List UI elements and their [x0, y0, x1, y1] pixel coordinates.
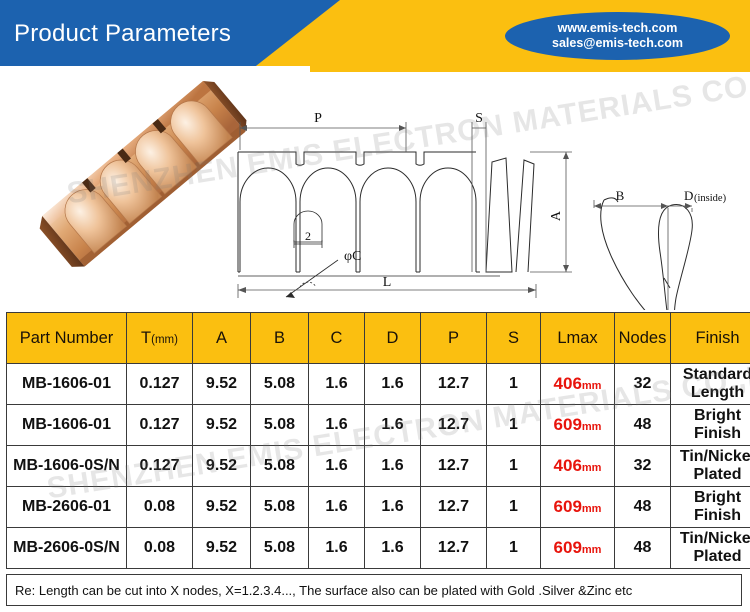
label-phi-C: φC: [344, 249, 361, 264]
label-A: A: [549, 210, 564, 221]
cell-b: 5.08: [251, 446, 309, 487]
table-row: MB-1606-01 0.127 9.52 5.08 1.6 1.6 12.7 …: [7, 405, 750, 446]
cell-d: 1.6: [365, 487, 421, 528]
cell-thickness: 0.127: [127, 405, 193, 446]
label-L: L: [383, 275, 392, 290]
cell-nodes: 48: [615, 528, 671, 569]
cell-c: 1.6: [309, 528, 365, 569]
specifications-table-wrapper: Part Number T(mm) A B C D P S Lmax Nodes…: [6, 312, 744, 569]
cell-lmax-unit: mm: [582, 421, 602, 433]
cell-lmax-unit: mm: [582, 380, 602, 392]
cell-p: 12.7: [421, 487, 487, 528]
table-row: MB-1606-0S/N 0.127 9.52 5.08 1.6 1.6 12.…: [7, 446, 750, 487]
cell-part-number: MB-1606-0S/N: [7, 446, 127, 487]
cell-p: 12.7: [421, 364, 487, 405]
table-header-row: Part Number T(mm) A B C D P S Lmax Nodes…: [7, 313, 750, 364]
col-header-b: B: [251, 313, 309, 364]
cell-b: 5.08: [251, 487, 309, 528]
cell-a: 9.52: [193, 487, 251, 528]
cell-p: 12.7: [421, 528, 487, 569]
specifications-table: Part Number T(mm) A B C D P S Lmax Nodes…: [6, 312, 750, 569]
cell-finish: Bright Finish: [671, 405, 750, 446]
cell-lmax: 406mm: [541, 364, 615, 405]
cell-d: 1.6: [365, 364, 421, 405]
cell-nodes: 32: [615, 364, 671, 405]
col-header-d: D: [365, 313, 421, 364]
email-text: sales@emis-tech.com: [552, 36, 683, 51]
cell-lmax: 406mm: [541, 446, 615, 487]
cell-c: 1.6: [309, 364, 365, 405]
table-row: MB-2606-01 0.08 9.52 5.08 1.6 1.6 12.7 1…: [7, 487, 750, 528]
cell-lmax-unit: mm: [582, 503, 602, 515]
cell-a: 9.52: [193, 364, 251, 405]
col-header-a: A: [193, 313, 251, 364]
drawing-cross-section: [601, 198, 693, 310]
label-D-inside: D: [684, 188, 693, 203]
cell-nodes: 32: [615, 446, 671, 487]
table-row: MB-1606-01 0.127 9.52 5.08 1.6 1.6 12.7 …: [7, 364, 750, 405]
label-B: B: [616, 188, 625, 203]
col-header-c: C: [309, 313, 365, 364]
cell-lmax-value: 406: [554, 456, 582, 475]
col-header-thickness: T(mm): [127, 313, 193, 364]
cell-lmax: 609mm: [541, 487, 615, 528]
technical-drawing-area: P S A φC 2: [0, 72, 750, 310]
dimension-P: [240, 122, 406, 152]
cell-part-number: MB-1606-01: [7, 405, 127, 446]
col-header-thickness-unit: (mm): [151, 334, 178, 346]
cell-d: 1.6: [365, 528, 421, 569]
drawing-side-elevation: [238, 150, 534, 276]
cell-nodes: 48: [615, 405, 671, 446]
cell-a: 9.52: [193, 528, 251, 569]
product-photo-copper-strip: [35, 76, 252, 273]
cell-c: 1.6: [309, 487, 365, 528]
cell-b: 5.08: [251, 364, 309, 405]
cell-nodes: 48: [615, 487, 671, 528]
table-row: MB-2606-0S/N 0.08 9.52 5.08 1.6 1.6 12.7…: [7, 528, 750, 569]
cell-b: 5.08: [251, 405, 309, 446]
label-S: S: [475, 111, 483, 126]
col-header-lmax: Lmax: [541, 313, 615, 364]
col-header-p: P: [421, 313, 487, 364]
cell-lmax: 609mm: [541, 405, 615, 446]
cell-thickness: 0.127: [127, 446, 193, 487]
cell-c: 1.6: [309, 446, 365, 487]
cell-s: 1: [487, 528, 541, 569]
leader-phi-C: [286, 260, 338, 298]
label-node-2: 2: [305, 229, 311, 243]
cell-s: 1: [487, 405, 541, 446]
col-header-thickness-label: T: [141, 329, 151, 347]
cell-lmax: 609mm: [541, 528, 615, 569]
dimension-S: [472, 122, 486, 272]
col-header-nodes: Nodes: [615, 313, 671, 364]
cell-part-number: MB-1606-01: [7, 364, 127, 405]
cell-thickness: 0.08: [127, 528, 193, 569]
cell-part-number: MB-2606-0S/N: [7, 528, 127, 569]
cell-s: 1: [487, 446, 541, 487]
cell-p: 12.7: [421, 405, 487, 446]
cell-thickness: 0.127: [127, 364, 193, 405]
label-P: P: [314, 111, 322, 126]
cell-b: 5.08: [251, 528, 309, 569]
cell-p: 12.7: [421, 446, 487, 487]
website-text: www.emis-tech.com: [558, 21, 678, 36]
page-header: Product Parameters www.emis-tech.com sal…: [0, 0, 750, 72]
cell-a: 9.52: [193, 405, 251, 446]
contact-badge: www.emis-tech.com sales@emis-tech.com: [505, 12, 730, 60]
footer-note: Re: Length can be cut into X nodes, X=1.…: [6, 574, 742, 606]
cell-s: 1: [487, 364, 541, 405]
cell-s: 1: [487, 487, 541, 528]
cell-lmax-value: 609: [554, 538, 582, 557]
cell-finish: Tin/Nickel Plated: [671, 528, 750, 569]
cell-c: 1.6: [309, 405, 365, 446]
cell-finish: Bright Finish: [671, 487, 750, 528]
col-header-s: S: [487, 313, 541, 364]
col-header-part-number: Part Number: [7, 313, 127, 364]
col-header-finish: Finish: [671, 313, 750, 364]
cell-lmax-value: 406: [554, 374, 582, 393]
page-title: Product Parameters: [14, 20, 231, 48]
cell-lmax-value: 609: [554, 497, 582, 516]
cell-lmax-unit: mm: [582, 462, 602, 474]
cell-a: 9.52: [193, 446, 251, 487]
cell-finish: Standard Length: [671, 364, 750, 405]
cell-d: 1.6: [365, 405, 421, 446]
cell-d: 1.6: [365, 446, 421, 487]
cell-lmax-unit: mm: [582, 544, 602, 556]
cell-part-number: MB-2606-01: [7, 487, 127, 528]
cell-finish: Tin/Nickel Plated: [671, 446, 750, 487]
cell-lmax-value: 609: [554, 415, 582, 434]
cell-thickness: 0.08: [127, 487, 193, 528]
label-D-inside-sub: (inside): [694, 193, 727, 204]
